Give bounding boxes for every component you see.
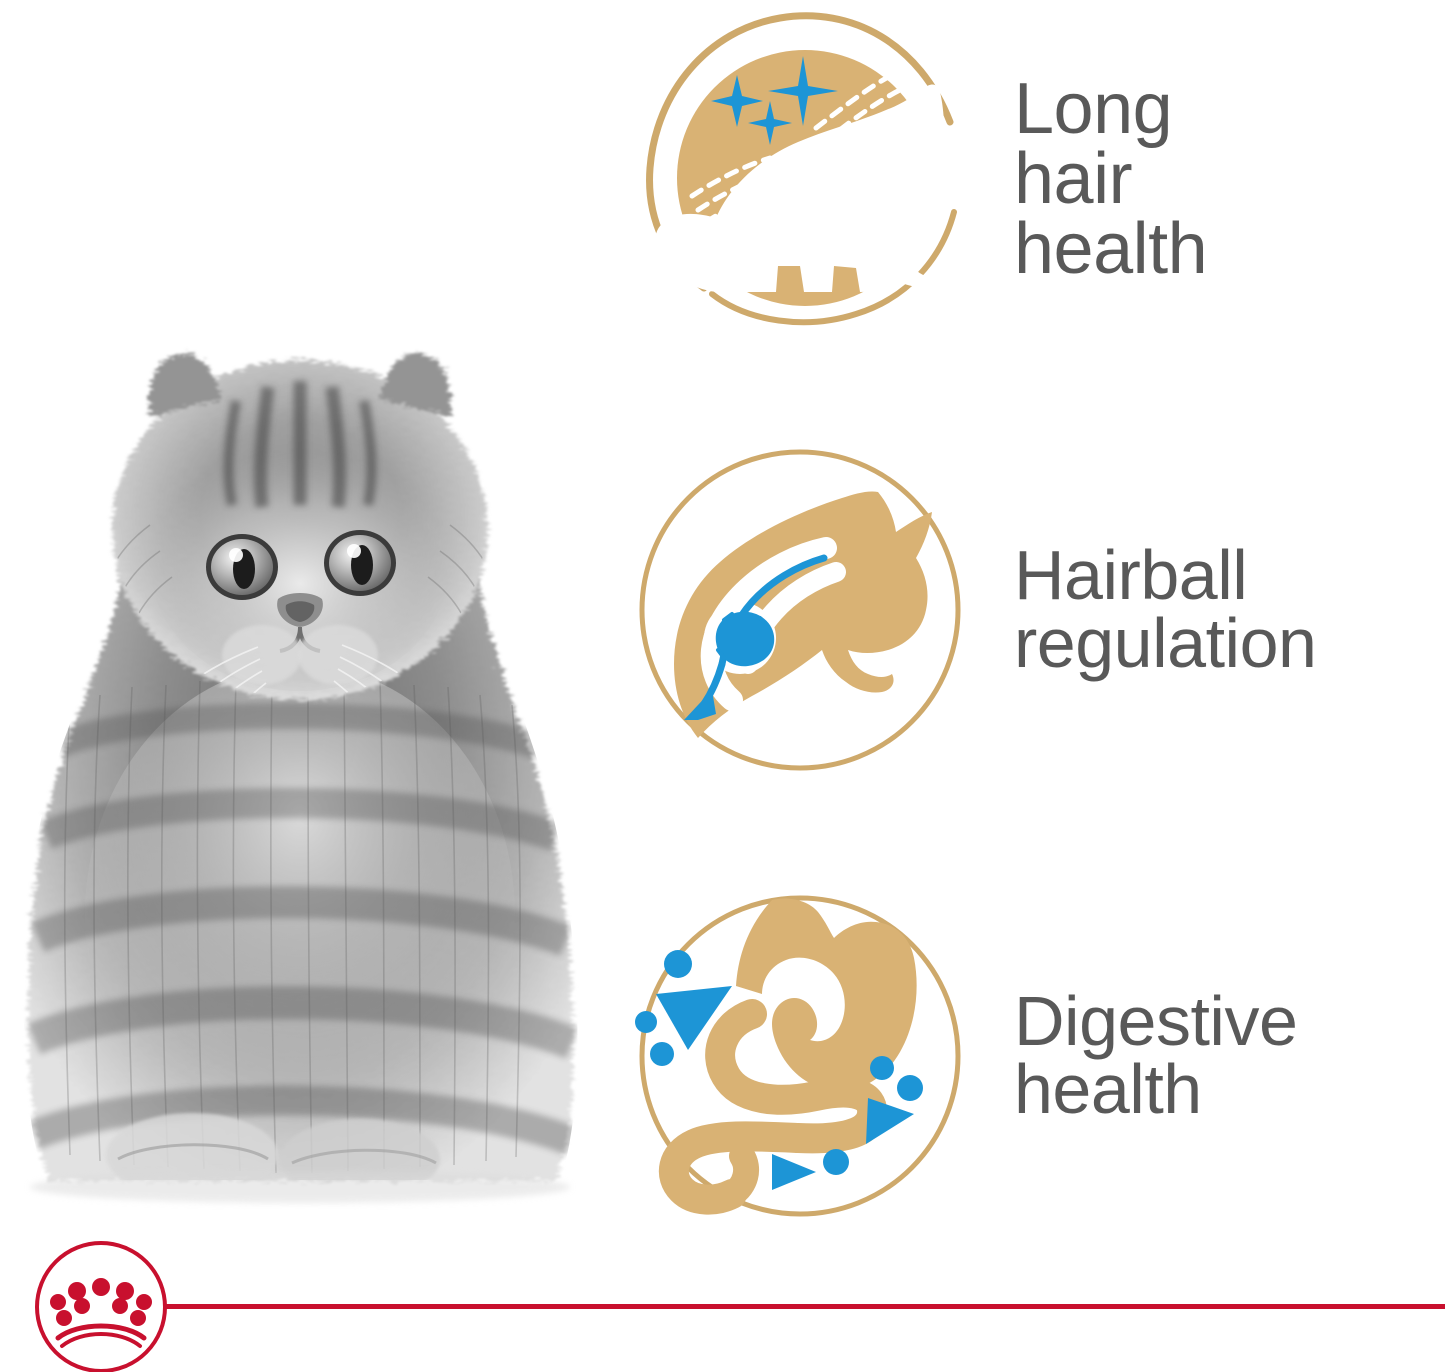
benefit-row-digestive-health: Digestive health	[620, 876, 1445, 1236]
benefit-row-long-hair-health: Long hair health	[620, 0, 1445, 360]
brand-footer	[0, 1238, 1445, 1372]
product-infographic: Long hair health H	[0, 0, 1445, 1372]
long-hair-cat-icon	[620, 0, 980, 360]
persian-cat-photo	[0, 275, 620, 1210]
benefit-label-hairball-regulation: Hairball regulation	[980, 542, 1445, 678]
benefit-label-long-hair-health: Long hair health	[980, 75, 1445, 284]
benefit-row-hairball-regulation: Hairball regulation	[620, 430, 1445, 790]
benefit-label-digestive-health: Digestive health	[980, 988, 1445, 1124]
hairball-digestive-tract-icon	[620, 430, 980, 790]
brand-rule	[150, 1304, 1445, 1309]
stomach-intestine-icon	[620, 876, 980, 1236]
royal-canin-logo	[32, 1238, 170, 1372]
